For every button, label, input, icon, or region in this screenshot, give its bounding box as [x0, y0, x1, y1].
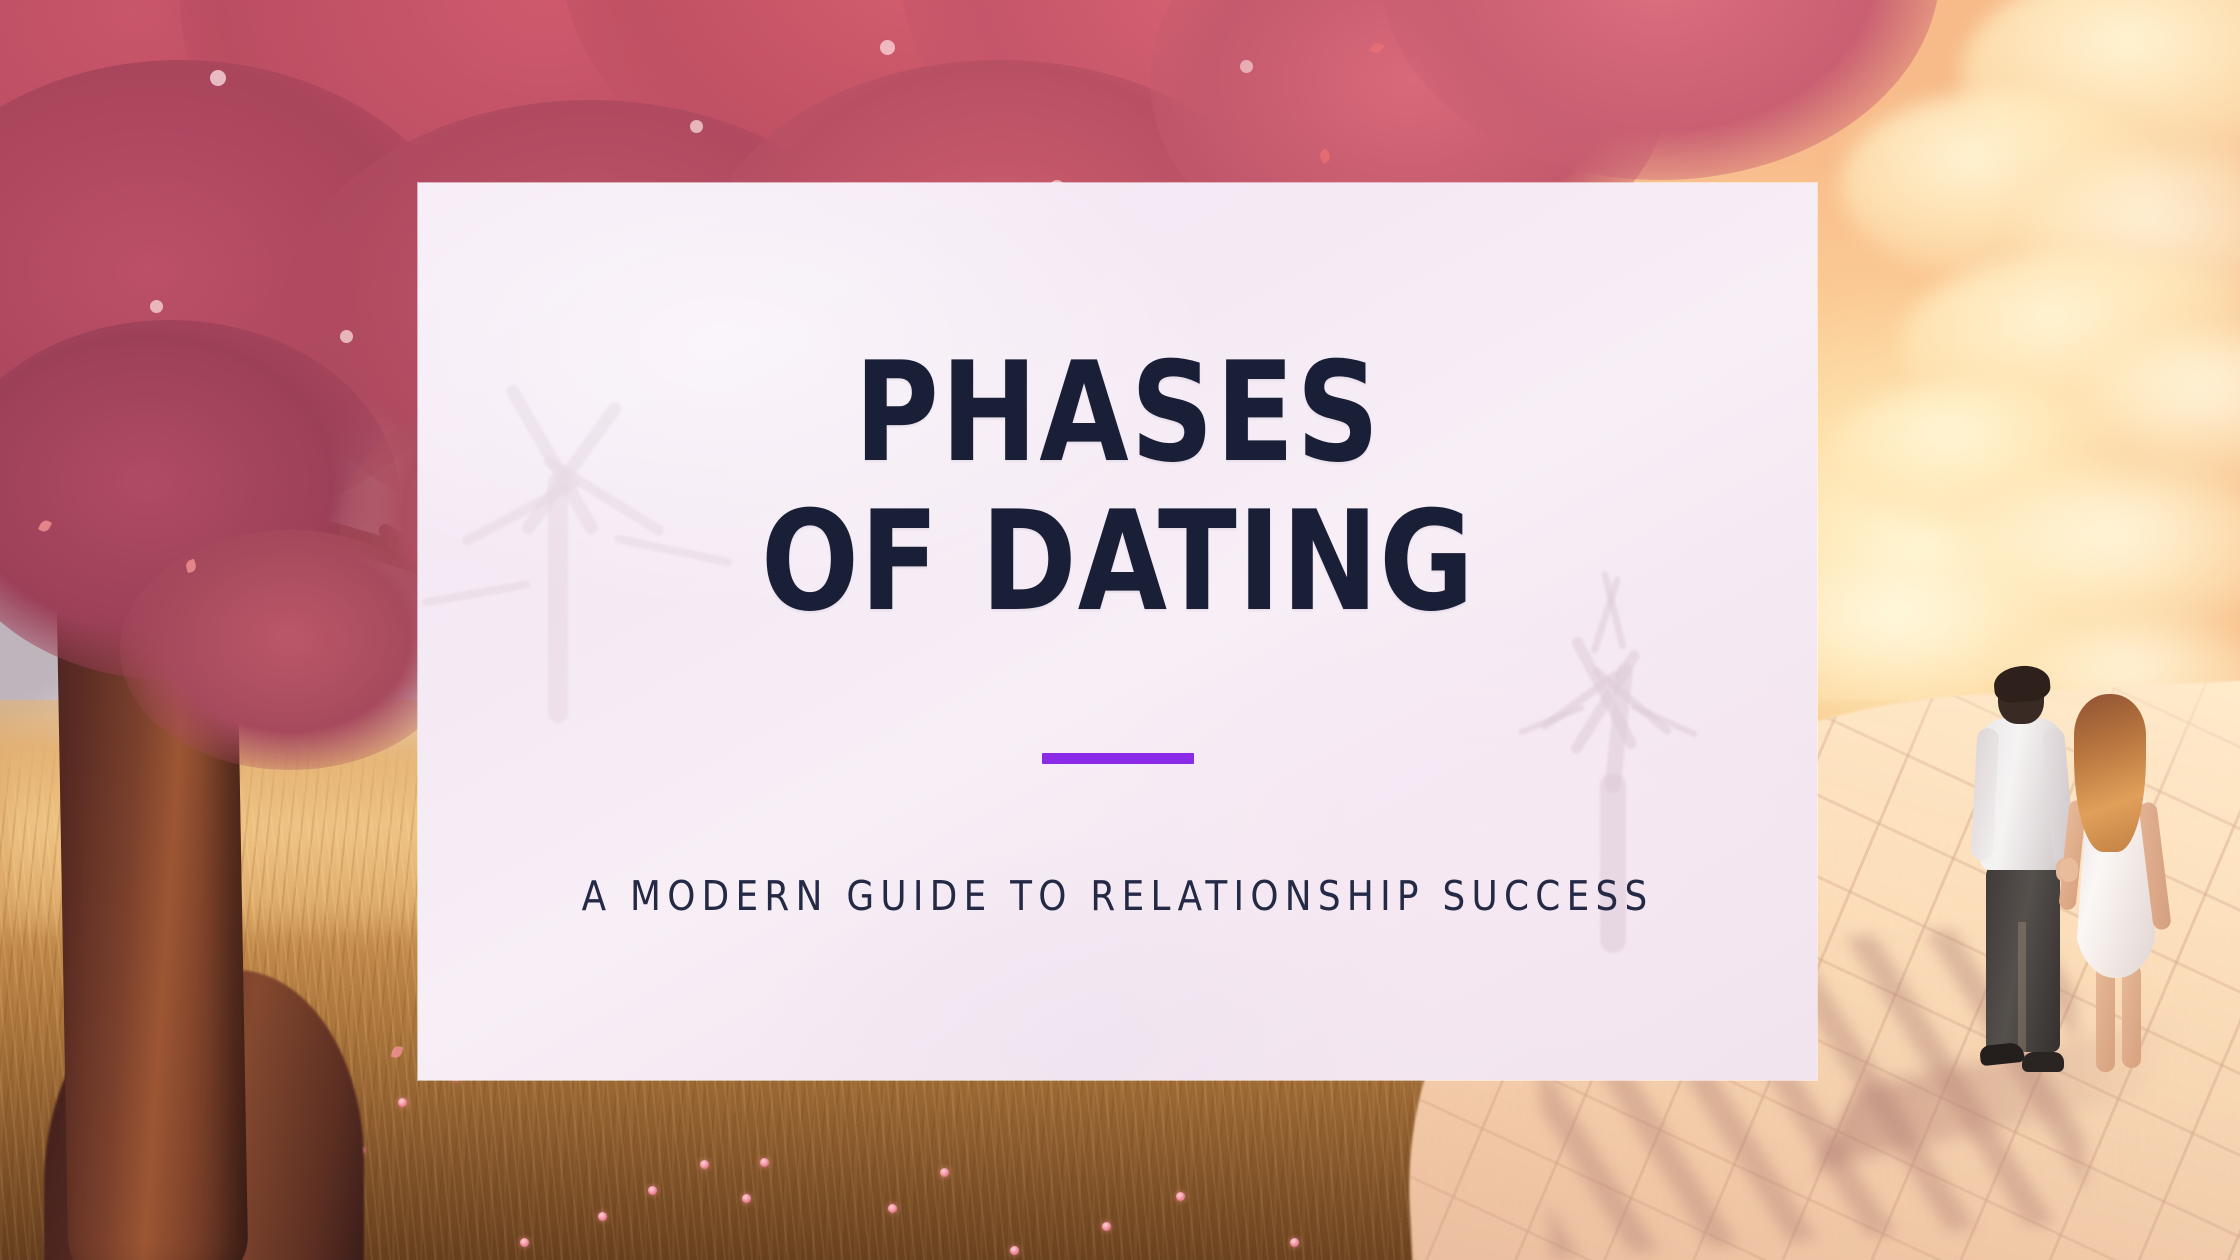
page-title: PHASES OF DATING	[761, 343, 1475, 633]
page-subtitle: A MODERN GUIDE TO RELATIONSHIP SUCCESS	[581, 872, 1653, 920]
couple-illustration	[1952, 672, 2182, 1092]
poster-canvas: PHASES OF DATING A MODERN GUIDE TO RELAT…	[0, 0, 2240, 1260]
accent-divider	[1042, 753, 1194, 764]
headline-line-1: PHASES	[761, 343, 1475, 484]
title-card: PHASES OF DATING A MODERN GUIDE TO RELAT…	[418, 183, 1817, 1080]
headline-line-2: OF DATING	[761, 492, 1475, 633]
